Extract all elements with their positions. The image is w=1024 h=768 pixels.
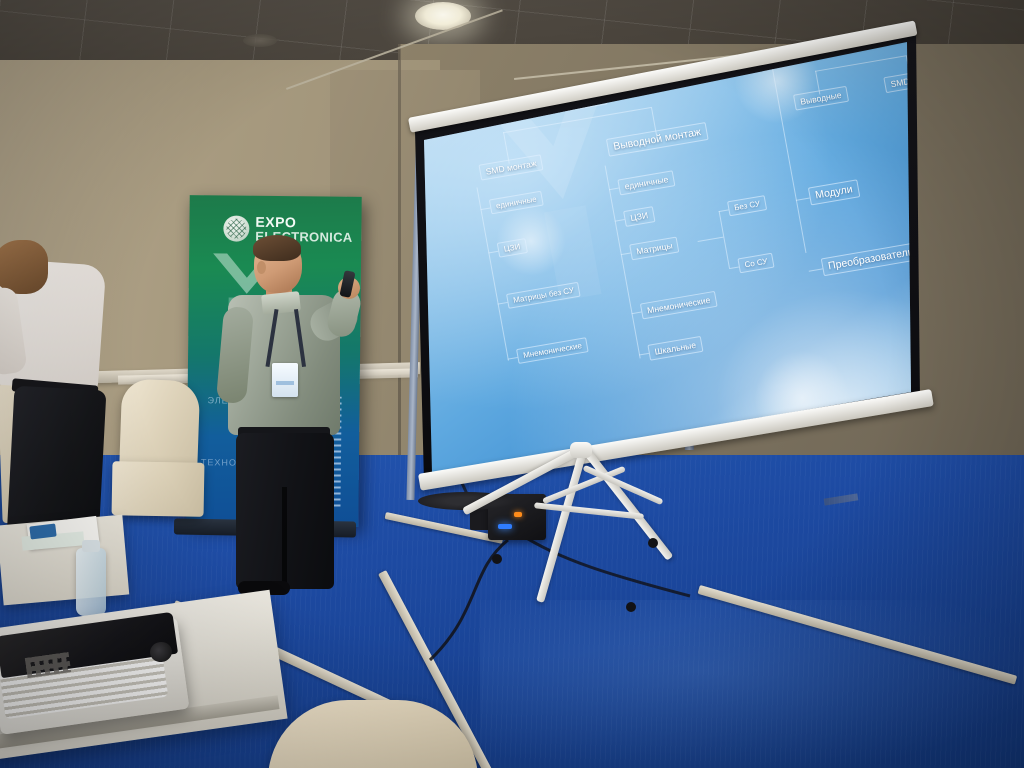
screen-brand-logo <box>824 493 859 505</box>
tripod-foot <box>626 602 636 612</box>
presenter-person <box>214 237 366 587</box>
node-modules: Модули <box>808 179 860 205</box>
presenter-ear <box>257 261 266 274</box>
node-matrix-no-su: Без СУ <box>727 195 767 216</box>
node-matrix-with-su: Со СУ <box>737 253 774 274</box>
node-th-scale: Шкальные <box>647 336 703 361</box>
bottle-cap <box>82 540 100 552</box>
tripod-hub <box>570 442 592 458</box>
water-bottle <box>76 548 106 616</box>
banner-brand-line1: EXPO <box>255 214 296 230</box>
node-converters: Преобразователи <box>821 242 920 276</box>
tripod-foot <box>492 554 502 564</box>
photo-scene: EXPO ELECTRONICA СКИЕ И ЭЛЕКТРОНИКА ТЕХН… <box>0 0 1024 768</box>
ceiling-vent-icon <box>243 34 277 47</box>
projection-screen: Оптоэлектронные изделия ПК «СИД» Индикат… <box>404 30 940 530</box>
hair <box>0 240 48 294</box>
node-ir-through-hole: Выводные <box>793 86 849 111</box>
slide-content: Оптоэлектронные изделия ПК «СИД» Индикат… <box>426 30 920 449</box>
name-badge <box>272 363 298 397</box>
node-smd-mnemonic: Мнемонические <box>516 337 589 364</box>
node-th-mnemonic: Мнемонические <box>640 291 718 320</box>
presenter-hair <box>253 235 301 261</box>
floor-light-sheen <box>480 600 1024 768</box>
trouser-seam <box>282 487 287 589</box>
tripod-foot <box>648 538 658 548</box>
